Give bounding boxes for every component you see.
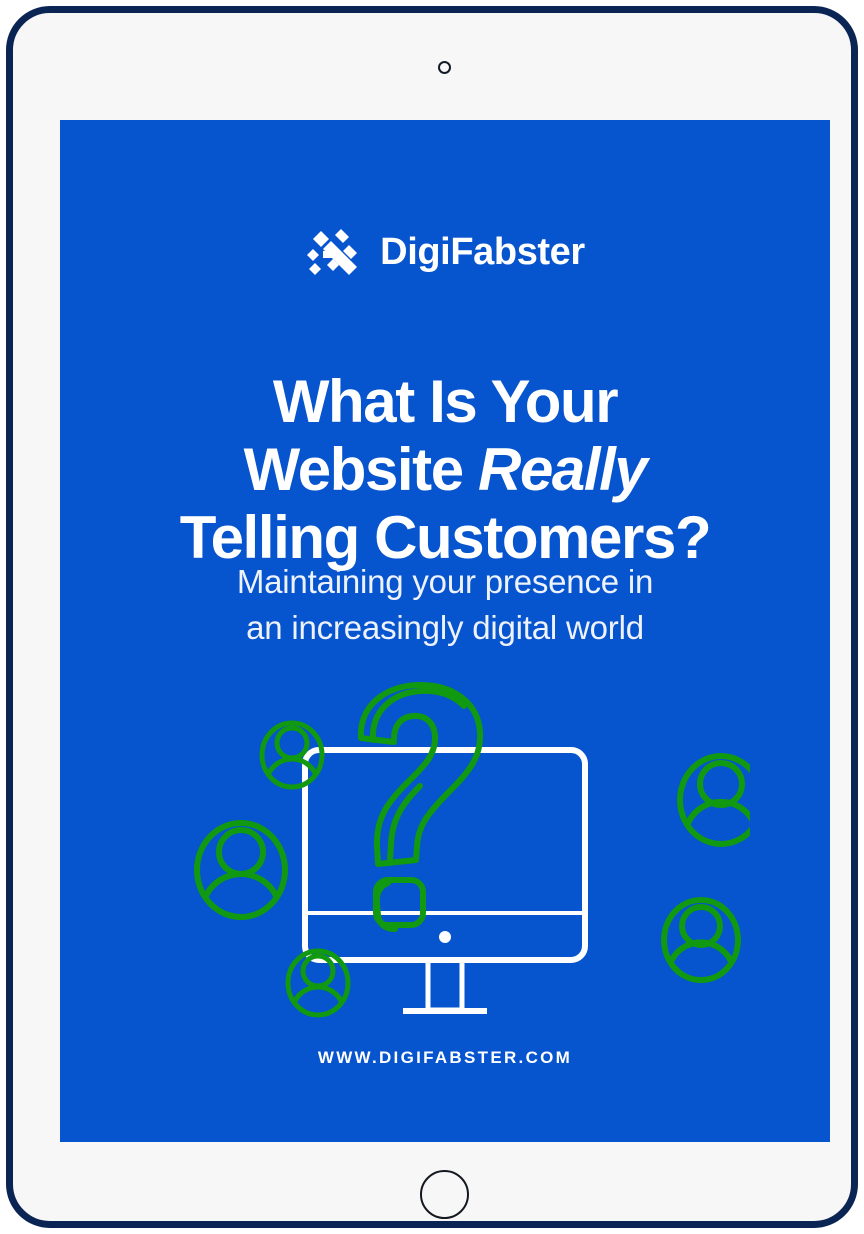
footer-website-url: WWW.DIGIFABSTER.COM bbox=[60, 1048, 830, 1068]
headline-line-2-prefix: Website bbox=[244, 436, 478, 503]
headline-line-2: Website Really bbox=[70, 436, 820, 504]
page-subtitle: Maintaining your presence in an increasi… bbox=[60, 559, 830, 651]
digifabster-logo-mark-icon bbox=[305, 225, 361, 279]
user-avatar-icon-top-left bbox=[262, 723, 322, 787]
question-mark-icon bbox=[361, 685, 480, 929]
user-avatar-icon-mid-left bbox=[197, 823, 285, 917]
camera-dot-icon bbox=[438, 61, 451, 74]
page-title: What Is Your Website Really Telling Cust… bbox=[60, 368, 830, 571]
user-avatar-icon-top-right bbox=[680, 756, 750, 844]
subheadline-line-2: an increasingly digital world bbox=[60, 605, 830, 651]
subheadline-line-1: Maintaining your presence in bbox=[60, 559, 830, 605]
brand-name: DigiFabster bbox=[380, 233, 585, 271]
headline-emphasis-really: Really bbox=[478, 436, 646, 503]
headline-line-1: What Is Your bbox=[70, 368, 820, 436]
user-avatar-icon-bottom-right bbox=[664, 900, 738, 980]
tablet-device-frame: DigiFabster What Is Your Website Really … bbox=[6, 6, 858, 1228]
ebook-cover-page: DigiFabster What Is Your Website Really … bbox=[60, 120, 830, 1142]
cover-illustration bbox=[140, 680, 750, 1030]
home-button-icon[interactable] bbox=[420, 1170, 469, 1219]
brand-logo: DigiFabster bbox=[60, 225, 830, 279]
